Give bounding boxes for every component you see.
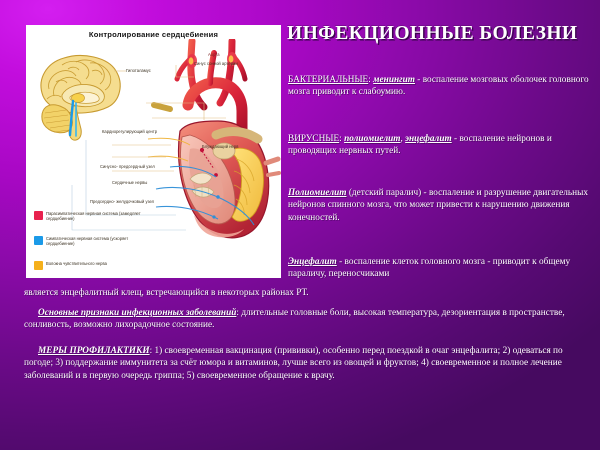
label-aorta: Аорта [208, 52, 220, 57]
legend-swatch-sensory [34, 261, 43, 270]
legend-item-sympathetic: Симпатическая нервная система (ускоряет … [34, 236, 150, 247]
paragraph-encephalitis-continued: является энцефалитный клещ, встречающийс… [24, 287, 584, 299]
bacterial-term: менингит [373, 75, 415, 85]
paragraph-bacterial: БАКТЕРИАЛЬНЫЕ: менингит - воспаление моз… [288, 74, 594, 99]
brain-illustration [32, 49, 127, 141]
viral-term-encephalitis: энцефалит [405, 134, 452, 144]
paragraph-polio: Полиомиелит (детский паралич) - воспален… [288, 187, 594, 224]
viral-term-polio: полиомиелит [344, 134, 400, 144]
label-vagus-nerve: Блуждающий нерв [202, 144, 238, 149]
legend-label-parasympathetic: Парасимпатическая нервная система (замед… [46, 211, 150, 222]
paragraph-signs: Основные признаки инфекционных заболеван… [24, 307, 584, 332]
label-cardiac-nerves: Сердечные нервы [112, 180, 147, 185]
label-carotid-sinus: Синус сонной артерии [194, 61, 244, 66]
label-hypothalamus: Гипоталамус [126, 68, 151, 73]
figure-title: Контролирование сердцебиения [26, 30, 281, 39]
legend-label-sensory: Волокна чувствительного нерва [46, 261, 107, 266]
legend-label-sympathetic: Симпатическая нервная система (ускоряет … [46, 236, 150, 247]
bacterial-heading: БАКТЕРИАЛЬНЫЕ [288, 75, 368, 85]
legend-swatch-sympathetic [34, 236, 43, 245]
anatomy-figure-panel: Контролирование сердцебиения [26, 25, 281, 278]
viral-heading: ВИРУСНЫЕ [288, 134, 339, 144]
signs-heading: Основные признаки инфекционных заболеван… [38, 308, 236, 318]
paragraph-prevention: МЕРЫ ПРОФИЛАКТИКИ: 1) своевременная вакц… [24, 345, 584, 382]
legend-item-parasympathetic: Парасимпатическая нервная система (замед… [34, 211, 150, 222]
label-sinoatrial-node: Синусно- предсердный узел [100, 164, 155, 169]
encephalitis-term: Энцефалит [288, 257, 337, 267]
heart-illustration [146, 39, 281, 277]
page-title: ИНФЕКЦИОННЫЕ БОЛЕЗНИ [287, 24, 592, 44]
paragraph-encephalitis: Энцефалит - воспаление клеток головного … [288, 256, 594, 281]
prevention-heading: МЕРЫ ПРОФИЛАКТИКИ [38, 346, 150, 356]
label-atrioventricular-node: Предсердно- желудочковый узел [90, 199, 162, 204]
polio-term: Полиомиелит [288, 188, 347, 198]
paragraph-viral: ВИРУСНЫЕ: полиомиелит, энцефалит - воспа… [288, 133, 594, 158]
label-cardioregulatory-center: Кардиорегулирующий центр [102, 129, 157, 134]
legend-swatch-parasympathetic [34, 211, 43, 220]
legend-item-sensory: Волокна чувствительного нерва [34, 261, 150, 270]
slide-root: Контролирование сердцебиения [0, 0, 600, 450]
